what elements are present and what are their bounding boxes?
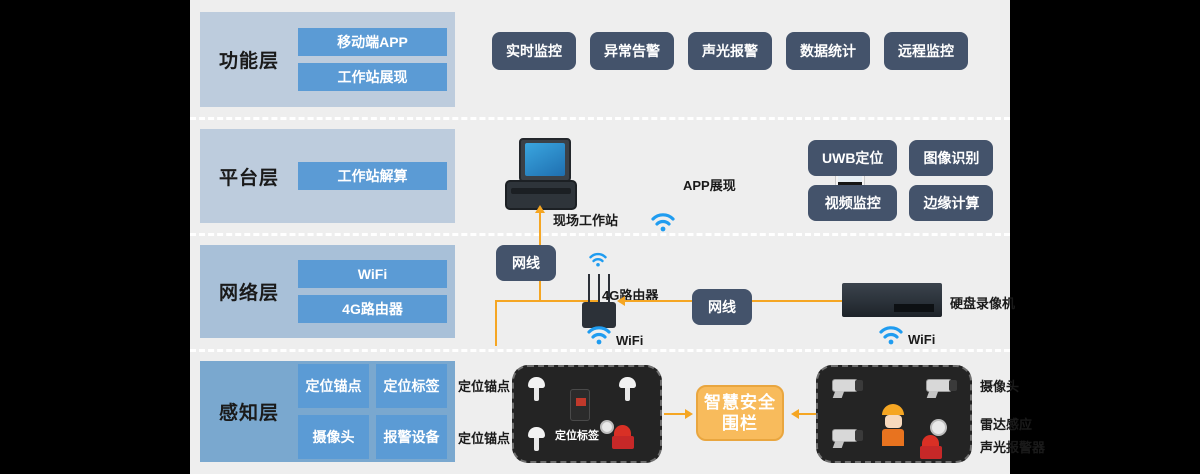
anchor-stem: [625, 388, 630, 401]
siren-device-right: [922, 435, 942, 459]
pill-video-monitor[interactable]: 视频监控: [808, 185, 897, 221]
divider-3: [190, 349, 1010, 352]
anchor-stem: [534, 388, 539, 401]
tag-workstation-display[interactable]: 工作站展现: [298, 63, 447, 91]
wifi-icon-platform: [650, 212, 676, 232]
tag-positioning-anchor[interactable]: 定位锚点: [298, 364, 369, 408]
layer-band-function: 功能层 移动端APP 工作站展现: [200, 12, 455, 107]
layer-title-function: 功能层: [200, 46, 298, 73]
scene-video-surveillance: [816, 365, 972, 463]
pill-audio-visual-alarm[interactable]: 声光报警: [688, 32, 772, 70]
siren-label: 声光报警器: [980, 437, 1045, 456]
arrow-into-fence-right: [791, 409, 799, 419]
diagram-canvas: 功能层 移动端APP 工作站展现 实时监控 异常告警 声光报警 数据统计 远程监…: [190, 0, 1010, 474]
layer-tags-platform: 工作站解算: [298, 162, 455, 190]
worker-helmet: [882, 404, 904, 415]
layer-tags-network: WiFi 4G路由器: [298, 260, 455, 323]
uwb-anchor-1: [528, 377, 545, 401]
layer-tags-function: 移动端APP 工作站展现: [298, 28, 455, 91]
layer-tags-perception: 定位锚点 定位标签 摄像头 报警设备: [298, 364, 455, 459]
siren-top: [614, 425, 631, 436]
worker-body: [882, 429, 904, 446]
pill-uwb-positioning[interactable]: UWB定位: [808, 140, 897, 176]
connector-router-vertical: [495, 300, 497, 346]
tag-mobile-app[interactable]: 移动端APP: [298, 28, 447, 56]
fence-line-2: 围栏: [704, 413, 776, 434]
field-workstation-device: [505, 138, 577, 210]
fence-line-1: 智慧安全: [704, 392, 776, 413]
tag-positioning-label[interactable]: 定位标签: [376, 364, 447, 408]
anchor-stem: [534, 438, 539, 451]
wifi-icon-router-bottom: [586, 325, 612, 345]
camera-lens: [855, 380, 863, 391]
camera-lens: [855, 430, 863, 441]
layer-title-perception: 感知层: [200, 398, 298, 425]
cable-label-right: 网线: [692, 289, 752, 325]
arrow-to-router: [617, 296, 625, 306]
anchor-dome: [528, 377, 545, 388]
arrow-to-workstation: [535, 205, 545, 213]
dvr-device: [842, 283, 942, 317]
pill-edge-computing[interactable]: 边缘计算: [909, 185, 993, 221]
camera-mount: [833, 441, 845, 448]
worker-face: [885, 415, 902, 428]
divider-1: [190, 117, 1010, 120]
camera-mount: [833, 391, 845, 398]
pill-realtime-monitor[interactable]: 实时监控: [492, 32, 576, 70]
pill-image-recognition[interactable]: 图像识别: [909, 140, 993, 176]
anchor-label-bottom: 定位锚点: [458, 428, 510, 447]
layer-title-network: 网络层: [200, 278, 298, 305]
radar-sensor-left: [600, 420, 614, 434]
platform-pill-group: UWB定位 图像识别 视频监控 边缘计算: [808, 140, 993, 221]
cable-label-left: 网线: [496, 245, 556, 281]
siren-base: [612, 436, 634, 449]
camera-1: [832, 379, 858, 392]
tag-camera[interactable]: 摄像头: [298, 415, 369, 459]
camera-lens: [949, 380, 957, 391]
layer-band-network: 网络层 WiFi 4G路由器: [200, 245, 455, 338]
siren-device-left: [614, 425, 634, 449]
uwb-tag-device: [570, 389, 590, 421]
camera-3: [832, 429, 858, 442]
uwb-tag-label: 定位标签: [555, 427, 599, 443]
layer-band-perception: 感知层 定位锚点 定位标签 摄像头 报警设备: [200, 361, 455, 462]
wifi-icon-router-top: [588, 252, 608, 267]
app-display-label: APP展现: [683, 175, 736, 194]
pill-anomaly-alarm[interactable]: 异常告警: [590, 32, 674, 70]
wifi-icon-dvr: [878, 325, 904, 345]
router-antenna-2: [598, 274, 600, 304]
smart-safety-fence-box[interactable]: 智慧安全 围栏: [696, 385, 784, 441]
layer-band-platform: 平台层 工作站解算: [200, 129, 455, 223]
radar-sensor-right: [930, 419, 947, 436]
tag-4g-router[interactable]: 4G路由器: [298, 295, 447, 323]
anchor-label-top: 定位锚点: [458, 376, 510, 395]
wifi-label-dvr: WiFi: [908, 332, 935, 347]
anchor-dome: [619, 377, 636, 388]
uwb-anchor-3: [528, 427, 545, 451]
anchor-dome: [528, 427, 545, 438]
layer-title-platform: 平台层: [200, 163, 298, 190]
camera-mount: [927, 391, 939, 398]
tag-workstation-compute[interactable]: 工作站解算: [298, 162, 447, 190]
pill-data-statistics[interactable]: 数据统计: [786, 32, 870, 70]
siren-base: [920, 446, 942, 459]
divider-2: [190, 233, 1010, 236]
wifi-label-router: WiFi: [616, 333, 643, 348]
camera-label: 摄像头: [980, 376, 1019, 395]
connector-left-scene-to-fence: [664, 413, 686, 415]
worker-figure: [880, 404, 906, 446]
fence-text: 智慧安全 围栏: [704, 392, 776, 435]
dvr-label: 硬盘录像机: [950, 293, 1015, 312]
camera-2: [926, 379, 952, 392]
tag-wifi[interactable]: WiFi: [298, 260, 447, 288]
radar-label: 雷达感应: [980, 414, 1032, 433]
router-antenna-1: [588, 274, 590, 304]
workstation-label: 现场工作站: [553, 210, 618, 229]
tag-alarm-device[interactable]: 报警设备: [376, 415, 447, 459]
function-pill-group: 实时监控 异常告警 声光报警 数据统计 远程监控: [492, 32, 968, 70]
arrow-into-fence-left: [685, 409, 693, 419]
siren-top: [922, 435, 939, 446]
scene-uwb-positioning: 定位标签: [512, 365, 662, 463]
uwb-anchor-2: [619, 377, 636, 401]
pill-remote-monitor[interactable]: 远程监控: [884, 32, 968, 70]
